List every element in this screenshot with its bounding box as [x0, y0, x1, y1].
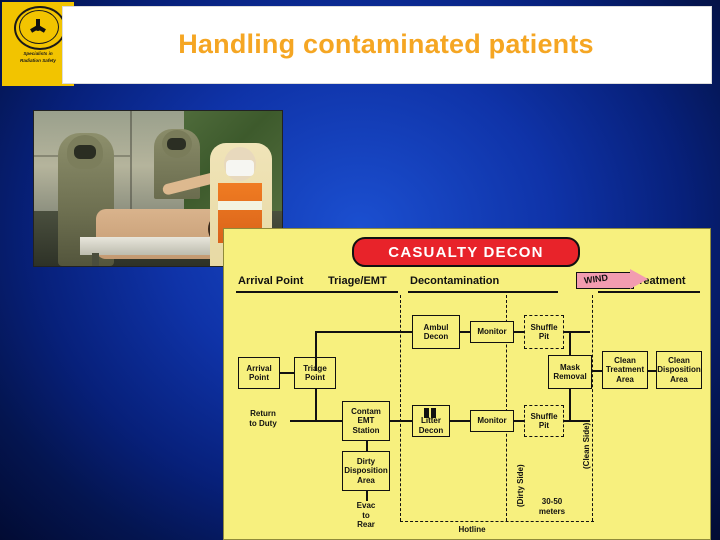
conn-contam-to-dirty	[366, 441, 368, 451]
conn-ambul-to-monitor	[460, 331, 471, 333]
conn-clean-treat-to-disp	[648, 370, 656, 372]
box-contam-emt-station: ContamEMTStation	[342, 401, 390, 441]
box-arrival-point-label: ArrivalPoint	[246, 364, 271, 383]
box-dirty-disposition-area: DirtyDispositionArea	[342, 451, 390, 491]
label-distance: 30-50meters	[520, 497, 584, 516]
box-shuffle-pit-lower-label: ShufflePit	[530, 412, 557, 431]
box-monitor-upper: Monitor	[470, 321, 514, 343]
conn-triage-up	[315, 357, 317, 371]
slide: Specialists in Radiation Safety Handling…	[0, 0, 720, 540]
photo-litter-leg-left	[92, 253, 99, 266]
diagram-header-rule-left	[236, 291, 398, 293]
label-evac-to-rear: EvactoRear	[342, 501, 390, 530]
conn-arrival-to-triage	[280, 372, 294, 374]
hotline-boundary	[592, 295, 593, 521]
conn-triage-to-return	[290, 420, 316, 422]
box-shuffle-pit-upper-label: ShufflePit	[530, 323, 557, 342]
diagram-header-decontamination: Decontamination	[410, 275, 499, 287]
box-litter-decon-label: LitterDecon	[419, 416, 443, 435]
conn-contam-to-litter	[390, 420, 412, 422]
conn-shuffle-upper-to-mask	[564, 331, 590, 333]
box-monitor-upper-label: Monitor	[477, 327, 506, 337]
label-hotline: Hotline	[442, 525, 502, 535]
conn-monitor-to-shuffle-upper	[514, 331, 525, 333]
box-clean-treatment-area-label: CleanTreatmentArea	[606, 356, 644, 385]
diagram-banner: CASUALTY DECON	[352, 237, 580, 267]
box-contam-emt-station-label: ContamEMTStation	[351, 407, 381, 436]
box-arrival-point: ArrivalPoint	[238, 357, 280, 389]
box-mask-removal: MaskRemoval	[548, 355, 592, 389]
box-clean-disposition-area-label: CleanDispositionArea	[657, 356, 701, 385]
box-monitor-lower: Monitor	[470, 410, 514, 432]
box-ambul-decon-label: AmbulDecon	[424, 323, 449, 342]
conn-litter-to-monitor	[450, 420, 470, 422]
conn-mask-riser	[569, 331, 571, 355]
box-shuffle-pit-lower: ShufflePit	[524, 405, 564, 437]
diagram-header-arrival-point: Arrival Point	[238, 275, 303, 287]
diagram-header-rule-mid	[408, 291, 558, 293]
box-monitor-lower-label: Monitor	[477, 416, 506, 426]
conn-mask-to-clean	[592, 370, 602, 372]
conn-shuffle-lower-to-mask	[564, 420, 590, 422]
wind-direction-arrow: WIND	[576, 269, 650, 289]
box-clean-treatment-area: CleanTreatmentArea	[602, 351, 648, 389]
page-title: Handling contaminated patients	[62, 6, 710, 82]
casualty-decon-diagram: CASUALTY DECON Arrival Point Triage/EMT …	[223, 228, 711, 540]
dirty-zone-left-boundary	[400, 295, 401, 521]
conn-to-ambul-decon	[315, 331, 413, 333]
conn-monitor-to-shuffle-lower	[514, 420, 525, 422]
photo-wall-seam	[130, 111, 132, 211]
diagram-header-triage-emt: Triage/EMT	[328, 275, 387, 287]
box-mask-removal-label: MaskRemoval	[553, 363, 586, 382]
box-ambul-decon: AmbulDecon	[412, 315, 460, 349]
conn-dirty-to-evac	[366, 491, 368, 501]
box-shuffle-pit-upper: ShufflePit	[524, 315, 564, 349]
conn-mask-down	[569, 389, 571, 421]
label-return-to-duty: Returnto Duty	[238, 409, 288, 428]
hotline-horizontal	[400, 521, 594, 522]
litter-icon	[424, 408, 436, 418]
conn-triage-down	[315, 389, 317, 421]
box-dirty-disposition-area-label: DirtyDispositionArea	[344, 457, 388, 486]
diagram-header-rule-right	[598, 291, 700, 293]
box-clean-disposition-area: CleanDispositionArea	[656, 351, 702, 389]
radiation-trefoil-icon	[30, 19, 46, 35]
conn-triage-to-contam	[315, 420, 342, 422]
label-clean-side: (Clean Side)	[582, 423, 591, 469]
conn-ambul-riser	[315, 331, 317, 358]
